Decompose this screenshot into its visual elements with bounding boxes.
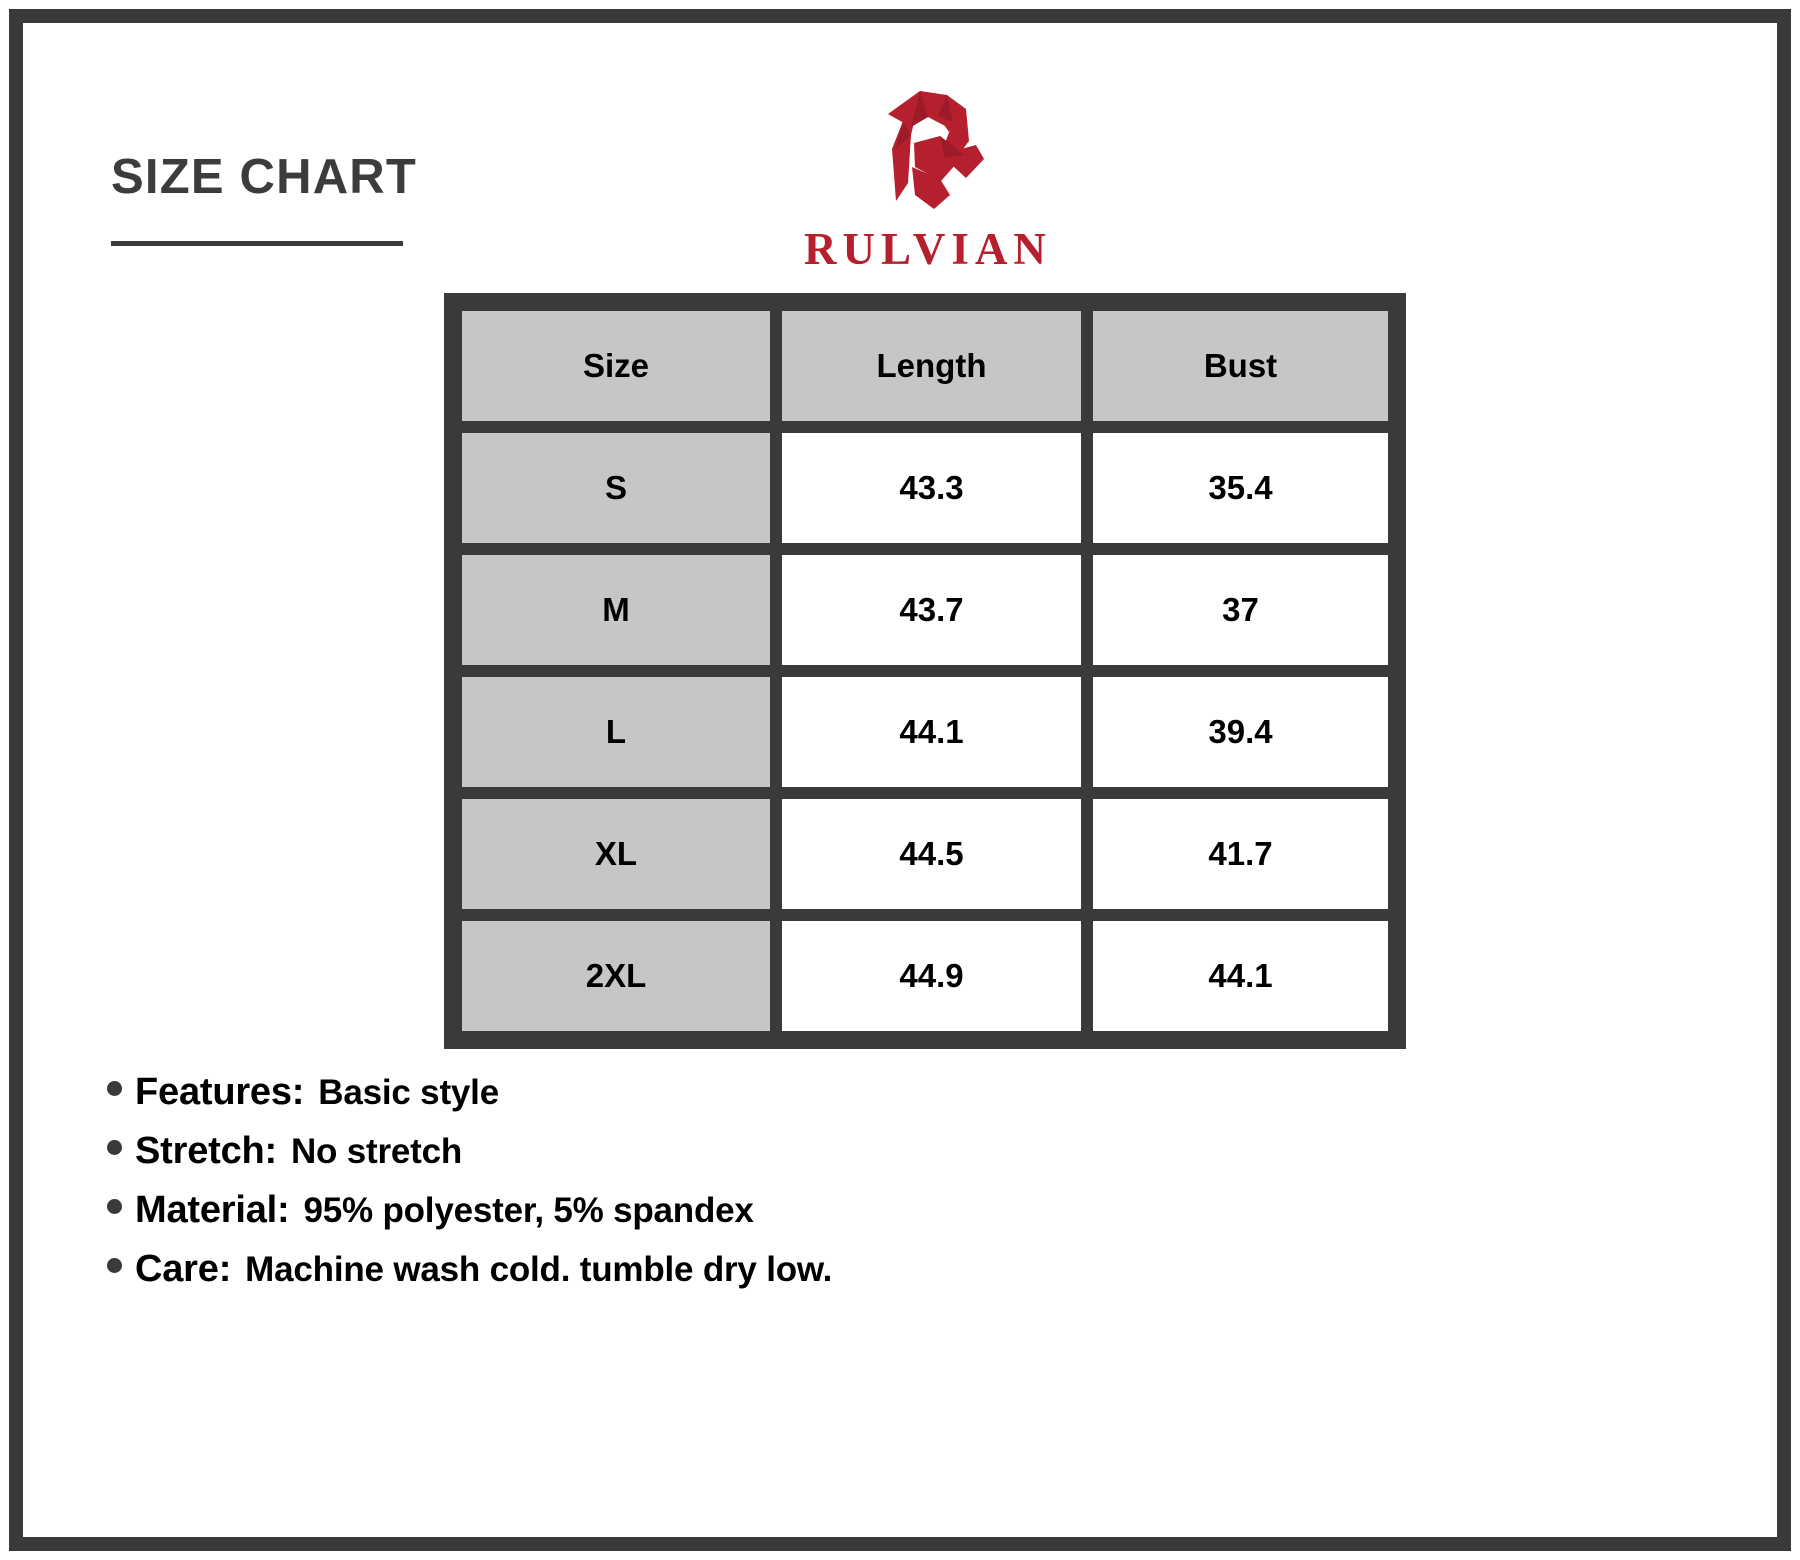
- size-chart-table: Size Length Bust S 43.3 35.4 M 43.7 37 L: [444, 293, 1406, 1049]
- column-header-size: Size: [456, 305, 776, 427]
- cell-length: 44.1: [776, 671, 1087, 793]
- bullet-icon: [107, 1081, 122, 1096]
- cell-size: XL: [456, 793, 776, 915]
- cell-size: M: [456, 549, 776, 671]
- brand-logo: RULVIAN: [798, 83, 1058, 272]
- list-item: Features: Basic style: [107, 1071, 1107, 1114]
- cell-size: L: [456, 671, 776, 793]
- cell-size: 2XL: [456, 915, 776, 1037]
- table-row: M 43.7 37: [456, 549, 1394, 671]
- cell-bust: 37: [1087, 549, 1394, 671]
- cell-bust: 35.4: [1087, 427, 1394, 549]
- table-row: 2XL 44.9 44.1: [456, 915, 1394, 1037]
- table-body: S 43.3 35.4 M 43.7 37 L 44.1 39.4 XL 44.…: [456, 427, 1394, 1037]
- column-header-length: Length: [776, 305, 1087, 427]
- spec-value: No stretch: [291, 1132, 462, 1172]
- cell-bust: 41.7: [1087, 793, 1394, 915]
- spec-label: Stretch:: [135, 1130, 277, 1173]
- size-chart-page: SIZE CHART: [0, 0, 1800, 1560]
- page-frame-border: SIZE CHART: [9, 9, 1791, 1551]
- table-header: Size Length Bust: [456, 305, 1394, 427]
- table-row: XL 44.5 41.7: [456, 793, 1394, 915]
- cell-length: 44.9: [776, 915, 1087, 1037]
- spec-value: Basic style: [318, 1073, 499, 1113]
- cell-bust: 44.1: [1087, 915, 1394, 1037]
- table-row: S 43.3 35.4: [456, 427, 1394, 549]
- cell-length: 43.3: [776, 427, 1087, 549]
- bullet-icon: [107, 1258, 122, 1273]
- title-underline-rule: [111, 241, 403, 246]
- brand-wordmark: RULVIAN: [804, 227, 1052, 272]
- page-title: SIZE CHART: [111, 153, 511, 202]
- product-spec-list: Features: Basic style Stretch: No stretc…: [107, 1071, 1107, 1307]
- column-header-bust: Bust: [1087, 305, 1394, 427]
- spec-label: Features:: [135, 1071, 304, 1114]
- rulvian-r-monogram-icon: [848, 83, 1008, 218]
- cell-size: S: [456, 427, 776, 549]
- bullet-icon: [107, 1140, 122, 1155]
- spec-label: Material:: [135, 1189, 289, 1232]
- spec-value: 95% polyester, 5% spandex: [303, 1191, 753, 1231]
- table-header-row: Size Length Bust: [456, 305, 1394, 427]
- cell-length: 43.7: [776, 549, 1087, 671]
- list-item: Stretch: No stretch: [107, 1130, 1107, 1173]
- list-item: Care: Machine wash cold. tumble dry low.: [107, 1248, 1107, 1291]
- cell-length: 44.5: [776, 793, 1087, 915]
- spec-value: Machine wash cold. tumble dry low.: [245, 1250, 832, 1290]
- spec-label: Care:: [135, 1248, 231, 1291]
- cell-bust: 39.4: [1087, 671, 1394, 793]
- list-item: Material: 95% polyester, 5% spandex: [107, 1189, 1107, 1232]
- table-row: L 44.1 39.4: [456, 671, 1394, 793]
- heading-block: SIZE CHART: [111, 153, 511, 246]
- bullet-icon: [107, 1199, 122, 1214]
